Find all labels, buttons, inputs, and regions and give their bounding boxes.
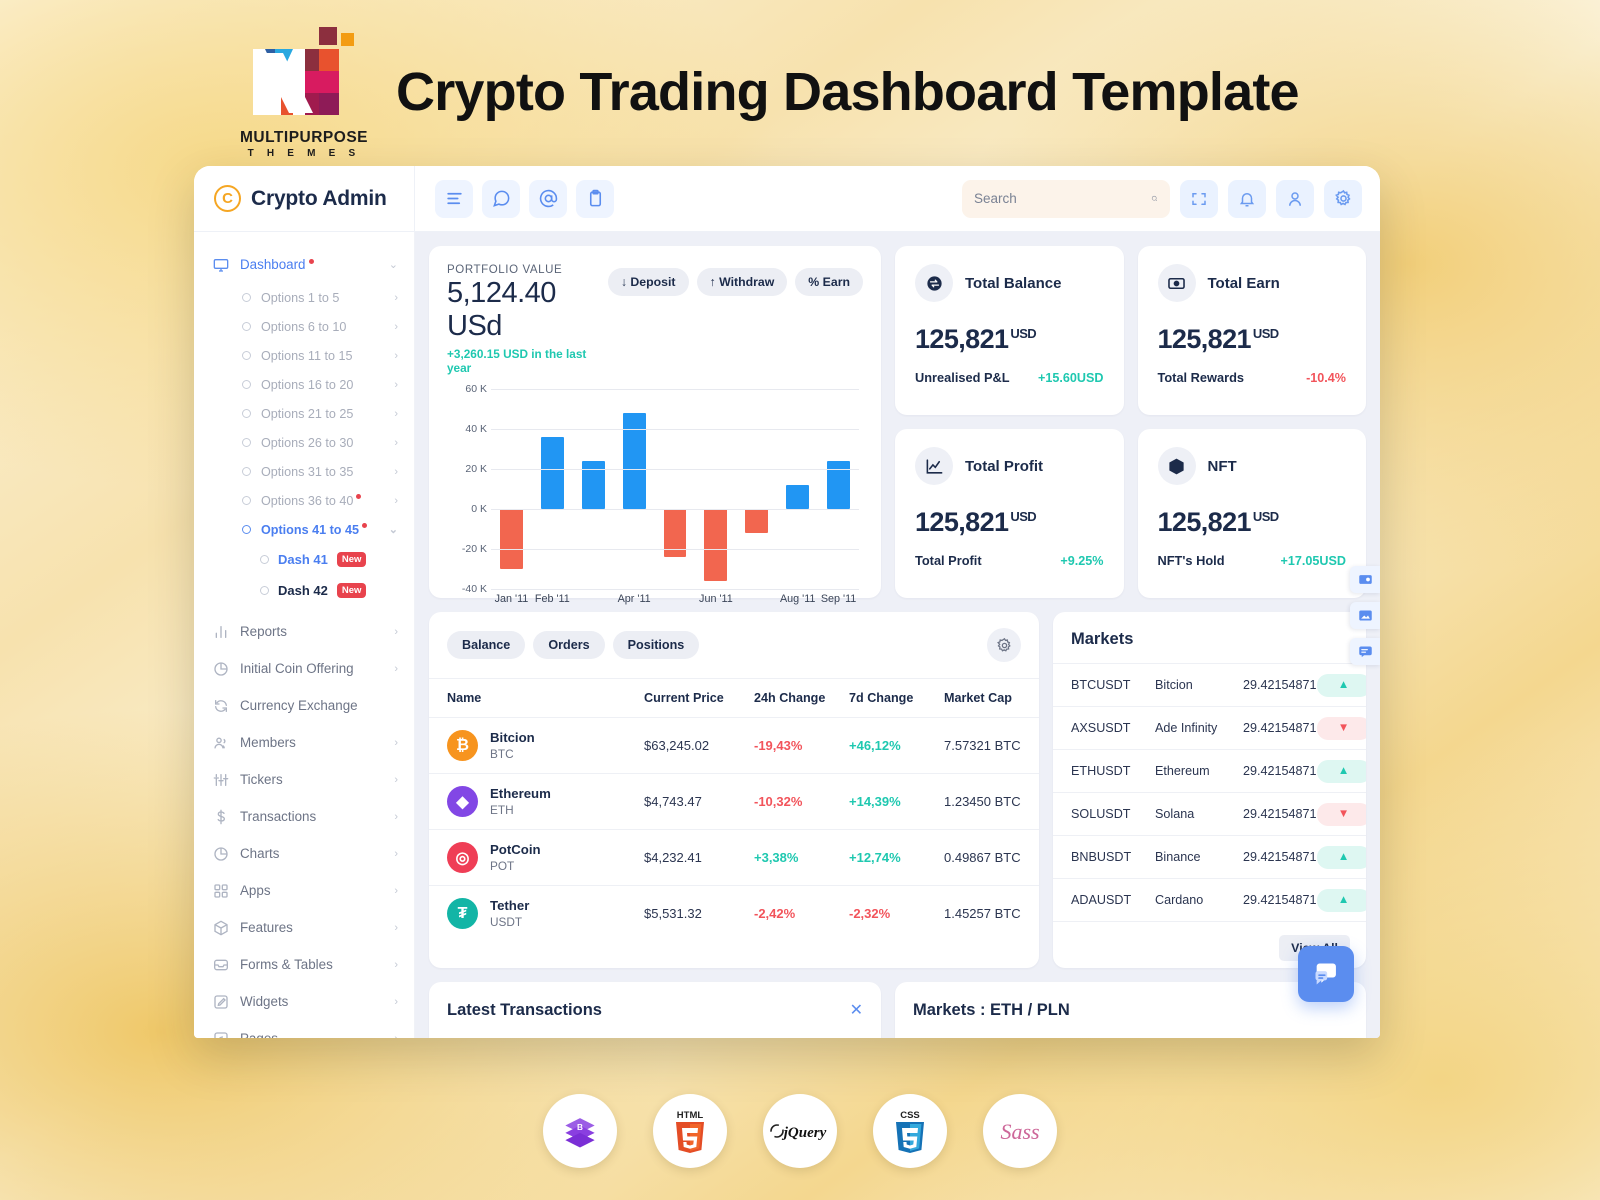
market-trend-badge: ▼ — [1317, 803, 1366, 826]
coin-symbol: ETH — [490, 803, 551, 817]
chevron-right-icon: › — [394, 774, 398, 786]
top-grid: PORTFOLIO VALUE 5,124.40 USd +3,260.15 U… — [429, 246, 1366, 598]
stat-foot-label: Total Profit — [915, 553, 982, 568]
stat-change: +15.60USD — [1038, 371, 1103, 385]
cell-24h: -2,42% — [754, 886, 849, 942]
sidebar-subitem-0[interactable]: Options 1 to 5› — [194, 283, 414, 312]
bullet-icon — [242, 496, 251, 505]
sidebar-item-currency-exchange[interactable]: Currency Exchange — [194, 687, 414, 724]
chevron-right-icon: › — [394, 1033, 398, 1039]
market-name: Cardano — [1155, 893, 1243, 907]
chart-x-tick: Aug '11 — [777, 593, 818, 605]
col-24h-change: 24h Change — [754, 679, 849, 718]
chart-bar-slot — [777, 389, 818, 589]
coin-icon: ₮ — [447, 898, 478, 929]
sidebar-subitem-8[interactable]: Options 41 to 45⌄ — [194, 515, 414, 544]
chevron-right-icon: › — [394, 408, 398, 420]
stat-card-total-profit: Total Profit 125,821USD Total Profit+9.2… — [895, 429, 1124, 598]
chart-y-axis: 60 K40 K20 K0 K-20 K-40 K — [447, 389, 487, 589]
stat-card-total-balance: Total Balance 125,821USD Unrealised P&L+… — [895, 246, 1124, 415]
bottom-grid: Balance Orders Positions Name Current Pr… — [429, 612, 1366, 968]
stat-value: 125,821 — [915, 507, 1008, 537]
tab-orders[interactable]: Orders — [533, 631, 604, 659]
topbar-right — [962, 180, 1380, 218]
svg-text:jQuery: jQuery — [782, 1125, 827, 1141]
bell-icon[interactable] — [1228, 180, 1266, 218]
market-price: 29.42154871 — [1243, 678, 1317, 692]
market-price: 29.42154871 — [1243, 807, 1317, 821]
sidebar-label-dashboard: Dashboard — [240, 257, 306, 272]
image-icon[interactable] — [1350, 602, 1380, 629]
sidebar-item-features[interactable]: Features› — [194, 909, 414, 946]
chart-x-tick — [655, 593, 696, 605]
sidebar-item-apps[interactable]: Apps› — [194, 872, 414, 909]
mt-logo-sub: T H E M E S — [248, 148, 361, 159]
chat-box-icon[interactable] — [1350, 638, 1380, 665]
balance-table: Name Current Price 24h Change 7d Change … — [429, 678, 1039, 941]
search-icon — [1151, 190, 1158, 207]
chart-x-tick: Jun '11 — [695, 593, 736, 605]
sidebar-subitem-7[interactable]: Options 36 to 40› — [194, 486, 414, 515]
bullet-icon — [242, 293, 251, 302]
sidebar-subitem-6[interactable]: Options 31 to 35› — [194, 457, 414, 486]
sliders-icon — [212, 771, 229, 788]
market-pair: SOLUSDT — [1071, 807, 1155, 821]
balance-table-body: ₿BitcionBTC$63,245.02-19,43%+46,12%7.573… — [429, 718, 1039, 942]
dollar-icon — [212, 808, 229, 825]
stat-title: Total Balance — [965, 275, 1061, 292]
chart-bar — [500, 509, 523, 569]
chart-x-tick: Sep '11 — [818, 593, 859, 605]
css3-logo: CSS — [873, 1094, 947, 1168]
tab-balance[interactable]: Balance — [447, 631, 525, 659]
coin-name: PotCoin — [490, 842, 541, 859]
deposit-button[interactable]: ↓ Deposit — [608, 268, 689, 296]
table-row[interactable]: ₮TetherUSDT$5,531.32-2,42%-2,32%1.45257 … — [429, 886, 1039, 942]
badge-new: New — [337, 583, 367, 598]
coin-symbol: BTC — [490, 747, 535, 761]
chart-gridline — [491, 469, 859, 470]
market-row[interactable]: ADAUSDTCardano29.42154871▲ — [1053, 878, 1366, 921]
chevron-right-icon: › — [394, 811, 398, 823]
stat-title: Total Earn — [1208, 275, 1280, 292]
stat-row-2: Total Profit 125,821USD Total Profit+9.2… — [895, 429, 1366, 598]
cell-name: ◎PotCoinPOT — [429, 830, 644, 886]
markets-list: BTCUSDTBitcion29.42154871▲AXSUSDTAde Inf… — [1053, 663, 1366, 921]
market-trend-badge: ▼ — [1317, 717, 1366, 740]
sidebar-item-forms-tables[interactable]: Forms & Tables› — [194, 946, 414, 983]
chat-fab-icon[interactable] — [1298, 946, 1354, 1002]
cell-name: ₿BitcionBTC — [429, 718, 644, 774]
chart-bar-slot — [818, 389, 859, 589]
cell-market-cap: 1.23450 BTC — [944, 774, 1039, 830]
chart-gridline — [491, 509, 859, 510]
chevron-right-icon: › — [394, 437, 398, 449]
monitor-icon — [212, 256, 229, 273]
sidebar-item-tickers[interactable]: Tickers› — [194, 761, 414, 798]
chevron-right-icon: › — [394, 885, 398, 897]
coin-icon: ◆ — [447, 786, 478, 817]
stat-foot-label: NFT's Hold — [1158, 553, 1225, 568]
market-row[interactable]: AXSUSDTAde Infinity29.42154871▼ — [1053, 706, 1366, 749]
market-row[interactable]: BTCUSDTBitcion29.42154871▲ — [1053, 663, 1366, 706]
chart-plot-area — [491, 389, 859, 589]
topbar: C Crypto Admin — [194, 166, 1380, 232]
cell-price: $4,743.47 — [644, 774, 754, 830]
sass-logo: Sass — [983, 1094, 1057, 1168]
fullscreen-icon[interactable] — [1180, 180, 1218, 218]
cell-name: ◆EthereumETH — [429, 774, 644, 830]
chart-bar — [623, 413, 646, 509]
market-price: 29.42154871 — [1243, 764, 1317, 778]
chevron-right-icon: › — [394, 321, 398, 333]
coin-name: Bitcion — [490, 730, 535, 747]
clipboard-icon[interactable] — [576, 180, 614, 218]
chevron-right-icon: › — [394, 959, 398, 971]
table-row[interactable]: ◆EthereumETH$4,743.47-10,32%+14,39%1.234… — [429, 774, 1039, 830]
cell-7d: +46,12% — [849, 718, 944, 774]
sidebar-item-initial-coin-offering[interactable]: Initial Coin Offering› — [194, 650, 414, 687]
chart-x-tick — [736, 593, 777, 605]
stat-foot-label: Unrealised P&L — [915, 370, 1010, 385]
sidebar: Dashboard ⌄ Options 1 to 5› Options 6 to… — [194, 232, 415, 1038]
coin-icon: ₿ — [447, 730, 478, 761]
chart-gridline — [491, 549, 859, 550]
stat-card-nft: NFT 125,821USD NFT's Hold+17.05USD — [1138, 429, 1367, 598]
portfolio-value: 5,124.40 USd — [447, 277, 608, 343]
chevron-right-icon: › — [394, 466, 398, 478]
main-content: PORTFOLIO VALUE 5,124.40 USd +3,260.15 U… — [415, 232, 1380, 1038]
bullet-icon — [260, 586, 269, 595]
money-icon — [1158, 264, 1196, 302]
chevron-right-icon: › — [394, 663, 398, 675]
markets-eth-pln-title: Markets : ETH / PLN — [913, 1001, 1070, 1020]
stat-value: 125,821 — [1158, 507, 1251, 537]
topbar-left-icons — [415, 180, 614, 218]
sidebar-item-dash-41[interactable]: Dash 41New — [194, 544, 414, 575]
menu-icon[interactable] — [435, 180, 473, 218]
coin-name: Tether — [490, 898, 529, 915]
sidebar-subitem-4[interactable]: Options 21 to 25› — [194, 399, 414, 428]
table-row[interactable]: ₿BitcionBTC$63,245.02-19,43%+46,12%7.573… — [429, 718, 1039, 774]
col-name: Name — [429, 679, 644, 718]
stat-change: +17.05USD — [1281, 554, 1346, 568]
stat-unit: USD — [1010, 326, 1036, 341]
chart-y-tick: 20 K — [465, 463, 487, 475]
stat-foot-label: Total Rewards — [1158, 370, 1245, 385]
at-icon[interactable] — [529, 180, 567, 218]
page-icon — [212, 1030, 229, 1038]
market-name: Solana — [1155, 807, 1243, 821]
stat-change: -10.4% — [1306, 371, 1346, 385]
col-7d-change: 7d Change — [849, 679, 944, 718]
chevron-right-icon: › — [394, 626, 398, 638]
chevron-right-icon: › — [394, 922, 398, 934]
chart-x-tick: Jan '11 — [491, 593, 532, 605]
chart-bar — [745, 509, 768, 533]
market-name: Ethereum — [1155, 764, 1243, 778]
tech-logos: B HTML jQuery CSS Sass — [0, 1094, 1600, 1168]
chart-x-tick: Feb '11 — [532, 593, 573, 605]
svg-text:Sass: Sass — [1000, 1119, 1039, 1144]
bullet-icon — [242, 351, 251, 360]
chevron-right-icon: › — [394, 737, 398, 749]
page-banner: MULTIPURPOSE T H E M E S Crypto Trading … — [0, 0, 1600, 160]
mt-logo-mark — [243, 25, 365, 129]
cell-price: $63,245.02 — [644, 718, 754, 774]
app-window: C Crypto Admin Dashboard ⌄ — [194, 166, 1380, 1038]
chevron-down-icon: ⌄ — [389, 258, 398, 271]
chart-x-tick: Apr '11 — [614, 593, 655, 605]
market-price: 29.42154871 — [1243, 893, 1317, 907]
box-icon — [212, 919, 229, 936]
cell-market-cap: 0.49867 BTC — [944, 830, 1039, 886]
market-pair: AXSUSDT — [1071, 721, 1155, 735]
chart-bar — [541, 437, 564, 509]
portfolio-subtext: +3,260.15 USD in the last year — [447, 347, 608, 375]
stat-title: NFT — [1208, 458, 1237, 475]
sidebar-item-charts[interactable]: Charts› — [194, 835, 414, 872]
chart-bar — [786, 485, 809, 509]
multipurpose-themes-logo: MULTIPURPOSE T H E M E S — [238, 25, 370, 159]
bootstrap-logo: B — [543, 1094, 617, 1168]
search-input[interactable] — [974, 191, 1151, 206]
market-name: Ade Infinity — [1155, 721, 1243, 735]
badge-new: New — [337, 552, 367, 567]
market-row[interactable]: BNBUSDTBinance29.42154871▲ — [1053, 835, 1366, 878]
chart-pie-icon — [212, 845, 229, 862]
chart-y-tick: -20 K — [462, 543, 487, 555]
bullet-icon — [260, 555, 269, 564]
cell-7d: +14,39% — [849, 774, 944, 830]
coin-symbol: USDT — [490, 915, 529, 929]
svg-text:B: B — [577, 1123, 583, 1132]
bullet-icon — [242, 409, 251, 418]
market-trend-badge: ▲ — [1317, 889, 1366, 912]
market-price: 29.42154871 — [1243, 850, 1317, 864]
latest-transactions-title: Latest Transactions — [447, 1001, 602, 1020]
bullet-icon — [242, 380, 251, 389]
html5-logo: HTML — [653, 1094, 727, 1168]
sidebar-item-reports[interactable]: Reports› — [194, 613, 414, 650]
chart-bar-slot — [736, 389, 777, 589]
stat-unit: USD — [1253, 509, 1279, 524]
gear-icon[interactable] — [1324, 180, 1362, 218]
stat-row-1: Total Balance 125,821USD Unrealised P&L+… — [895, 246, 1366, 415]
sidebar-item-pages[interactable]: Pages› — [194, 1020, 414, 1038]
balance-tabs: Balance Orders Positions — [429, 612, 1039, 678]
brand-logo-icon: C — [214, 185, 241, 212]
chevron-right-icon: › — [394, 350, 398, 362]
stat-cards: Total Balance 125,821USD Unrealised P&L+… — [895, 246, 1366, 598]
user-icon[interactable] — [1276, 180, 1314, 218]
table-header-row: Name Current Price 24h Change 7d Change … — [429, 679, 1039, 718]
chevron-right-icon: › — [394, 292, 398, 304]
sidebar-item-members[interactable]: Members› — [194, 724, 414, 761]
inbox-icon — [212, 956, 229, 973]
chart-gridline — [491, 389, 859, 390]
chevron-right-icon: › — [394, 495, 398, 507]
cell-price: $5,531.32 — [644, 886, 754, 942]
edit-icon — [212, 993, 229, 1010]
chevron-right-icon: › — [394, 848, 398, 860]
latest-transactions-card: Latest Transactions ✕ — [429, 982, 881, 1038]
grid-icon — [212, 882, 229, 899]
chart-y-tick: 40 K — [465, 423, 487, 435]
chart-x-axis: Jan '11Feb '11Apr '11Jun '11Aug '11Sep '… — [491, 593, 859, 605]
stat-unit: USD — [1253, 326, 1279, 341]
brand-name: Crypto Admin — [251, 187, 387, 211]
coin-name: Ethereum — [490, 786, 551, 803]
card-icon[interactable] — [1350, 566, 1380, 593]
coin-icon: ◎ — [447, 842, 478, 873]
market-row[interactable]: ETHUSDTEthereum29.42154871▲ — [1053, 749, 1366, 792]
cell-7d: -2,32% — [849, 886, 944, 942]
refresh-icon — [212, 697, 229, 714]
stat-value: 125,821 — [915, 324, 1008, 354]
chart-x-tick — [573, 593, 614, 605]
svg-text:CSS: CSS — [900, 1110, 920, 1121]
markets-eth-pln-card: Markets : ETH / PLN — [895, 982, 1366, 1038]
users-icon — [212, 734, 229, 751]
cell-24h: -19,43% — [754, 718, 849, 774]
markets-title: Markets — [1053, 612, 1366, 663]
close-icon[interactable]: ✕ — [850, 1000, 863, 1020]
sidebar-subitem-2[interactable]: Options 11 to 15› — [194, 341, 414, 370]
bullet-icon — [242, 467, 251, 476]
new-dot — [309, 259, 314, 264]
market-name: Binance — [1155, 850, 1243, 864]
stat-change: +9.25% — [1060, 554, 1103, 568]
bullet-icon — [242, 322, 251, 331]
search-box[interactable] — [962, 180, 1170, 218]
market-name: Bitcion — [1155, 678, 1243, 692]
sidebar-subitem-3[interactable]: Options 16 to 20› — [194, 370, 414, 399]
chart-bar — [704, 509, 727, 581]
cell-24h: +3,38% — [754, 830, 849, 886]
cell-24h: -10,32% — [754, 774, 849, 830]
page-title: Crypto Trading Dashboard Template — [396, 61, 1299, 123]
chart-bar-slot — [491, 389, 532, 589]
chevron-right-icon: › — [394, 379, 398, 391]
stat-value: 125,821 — [1158, 324, 1251, 354]
table-row[interactable]: ◎PotCoinPOT$4,232.41+3,38%+12,74%0.49867… — [429, 830, 1039, 886]
market-pair: BTCUSDT — [1071, 678, 1155, 692]
balance-table-card: Balance Orders Positions Name Current Pr… — [429, 612, 1039, 968]
floating-side-tabs — [1350, 566, 1380, 665]
chart-bar-slot — [695, 389, 736, 589]
stat-title: Total Profit — [965, 458, 1043, 475]
cell-market-cap: 1.45257 BTC — [944, 886, 1039, 942]
chart-gridline — [491, 589, 859, 590]
market-trend-badge: ▲ — [1317, 674, 1366, 697]
brand[interactable]: C Crypto Admin — [194, 166, 415, 232]
chart-bar-slot — [532, 389, 573, 589]
cube-icon — [1158, 447, 1196, 485]
chart-bars — [491, 389, 859, 589]
cell-name: ₮TetherUSDT — [429, 886, 644, 942]
portfolio-actions: ↓ Deposit ↑ Withdraw % Earn — [608, 264, 863, 296]
chevron-down-icon: ⌄ — [389, 523, 398, 536]
market-price: 29.42154871 — [1243, 721, 1317, 735]
new-dot — [356, 494, 361, 499]
chart-bar-slot — [573, 389, 614, 589]
sidebar-item-widgets[interactable]: Widgets› — [194, 983, 414, 1020]
footer-grid: Latest Transactions ✕ Markets : ETH / PL… — [429, 982, 1366, 1038]
stat-card-total-earn: Total Earn 125,821USD Total Rewards-10.4… — [1138, 246, 1367, 415]
col-current-price: Current Price — [644, 679, 754, 718]
portfolio-card: PORTFOLIO VALUE 5,124.40 USd +3,260.15 U… — [429, 246, 881, 598]
sidebar-item-transactions[interactable]: Transactions› — [194, 798, 414, 835]
stat-unit: USD — [1010, 509, 1036, 524]
sidebar-subitem-5[interactable]: Options 26 to 30› — [194, 428, 414, 457]
market-pair: ETHUSDT — [1071, 764, 1155, 778]
earn-button[interactable]: % Earn — [795, 268, 863, 296]
markets-card: Markets BTCUSDTBitcion29.42154871▲AXSUSD… — [1053, 612, 1366, 968]
line-chart-icon — [915, 447, 953, 485]
tab-positions[interactable]: Positions — [613, 631, 700, 659]
bullet-icon — [242, 525, 251, 534]
chart-gridline — [491, 429, 859, 430]
market-trend-badge: ▲ — [1317, 846, 1366, 869]
chart-y-tick: 60 K — [465, 383, 487, 395]
cell-market-cap: 7.57321 BTC — [944, 718, 1039, 774]
cell-price: $4,232.41 — [644, 830, 754, 886]
sidebar-item-dash-42[interactable]: Dash 42New — [194, 575, 414, 606]
withdraw-button[interactable]: ↑ Withdraw — [697, 268, 788, 296]
coin-symbol: POT — [490, 859, 541, 873]
market-pair: BNBUSDT — [1071, 850, 1155, 864]
pie-chart-icon — [212, 660, 229, 677]
bullet-icon — [242, 438, 251, 447]
chat-icon[interactable] — [482, 180, 520, 218]
portfolio-label: PORTFOLIO VALUE — [447, 264, 608, 276]
market-pair: ADAUSDT — [1071, 893, 1155, 907]
jquery-logo: jQuery — [763, 1094, 837, 1168]
bar-chart-icon — [212, 623, 229, 640]
exchange-icon — [915, 264, 953, 302]
chart-y-tick: -40 K — [462, 583, 487, 595]
market-trend-badge: ▲ — [1317, 760, 1366, 783]
chevron-right-icon: › — [394, 996, 398, 1008]
svg-text:HTML: HTML — [677, 1110, 704, 1121]
col-market-cap: Market Cap — [944, 679, 1039, 718]
cell-7d: +12,74% — [849, 830, 944, 886]
chart-bar-slot — [614, 389, 655, 589]
body-row: Dashboard ⌄ Options 1 to 5› Options 6 to… — [194, 232, 1380, 1038]
new-dot — [362, 523, 367, 528]
mt-logo-name: MULTIPURPOSE — [240, 129, 368, 146]
portfolio-header: PORTFOLIO VALUE 5,124.40 USd +3,260.15 U… — [447, 264, 863, 375]
sidebar-item-dashboard[interactable]: Dashboard ⌄ — [194, 246, 414, 283]
table-settings-gear-icon[interactable] — [987, 628, 1021, 662]
chart-y-tick: 0 K — [471, 503, 487, 515]
portfolio-chart: 60 K40 K20 K0 K-20 K-40 K Jan '11Feb '11… — [447, 389, 863, 621]
market-row[interactable]: SOLUSDTSolana29.42154871▼ — [1053, 792, 1366, 835]
sidebar-subitem-1[interactable]: Options 6 to 10› — [194, 312, 414, 341]
chart-bar-slot — [655, 389, 696, 589]
